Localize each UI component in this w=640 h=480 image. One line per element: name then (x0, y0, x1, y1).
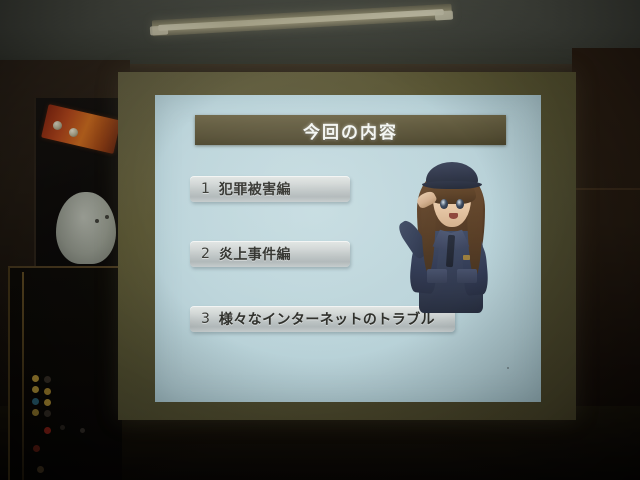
photograph-of-projected-slide: 今回の内容 1 犯罪被害編 2 炎上事件編 3 様々なインターネットのトラブル (0, 0, 640, 480)
slide-title-banner: 今回の内容 (195, 115, 506, 145)
light-end-cap-left (150, 26, 168, 36)
light-end-cap-right (435, 11, 453, 21)
chalkboard-magnet (33, 445, 40, 452)
agenda-item-3-number: 3 (201, 311, 210, 327)
dust-speck (507, 367, 509, 369)
chalkboard-magnet (32, 398, 39, 405)
character-cap-brim (422, 181, 482, 189)
agenda-item-1-label: 犯罪被害編 (219, 179, 291, 199)
chalkboard-magnet (44, 410, 51, 417)
poster-circle-decoration-1 (53, 121, 62, 130)
chalkboard-magnet (32, 375, 39, 382)
chalkboard-frame-rail (22, 272, 24, 480)
agenda-item-2-number: 2 (201, 246, 210, 262)
character-pocket-left (427, 269, 447, 283)
anime-policewoman-illustration (395, 157, 505, 312)
chalkboard-magnet (44, 388, 51, 395)
agenda-item-1-number: 1 (201, 181, 210, 197)
character-mouth (449, 213, 458, 219)
poster-circle-decoration-2 (69, 128, 78, 137)
slide-title: 今回の内容 (303, 118, 398, 143)
chalkboard-magnet (80, 428, 85, 433)
character-pocket-right (457, 269, 477, 283)
chalkboard-magnet (44, 427, 51, 434)
chalkboard-magnet (32, 409, 39, 416)
character-eye-left (440, 199, 448, 209)
chalkboard-magnet (37, 466, 44, 473)
chalkboard-magnet (44, 399, 51, 406)
decoration-dot-2 (105, 215, 109, 219)
agenda-item-3-label: 様々なインターネットのトラブル (219, 309, 435, 329)
character-eye-right (456, 199, 464, 209)
projected-slide: 今回の内容 1 犯罪被害編 2 炎上事件編 3 様々なインターネットのトラブル (155, 95, 541, 402)
decoration-dot-1 (95, 219, 99, 223)
character-uniform-badge (463, 255, 470, 260)
chalkboard-magnet (32, 386, 39, 393)
classroom-chalkboard (8, 266, 122, 480)
chalkboard-magnet (44, 376, 51, 383)
chalkboard-magnet (60, 425, 65, 430)
white-wall-decoration (56, 192, 116, 264)
agenda-item-2: 2 炎上事件編 (190, 241, 350, 267)
wall-right-trim (576, 188, 640, 190)
agenda-item-1: 1 犯罪被害編 (190, 176, 350, 202)
agenda-item-2-label: 炎上事件編 (219, 244, 291, 264)
